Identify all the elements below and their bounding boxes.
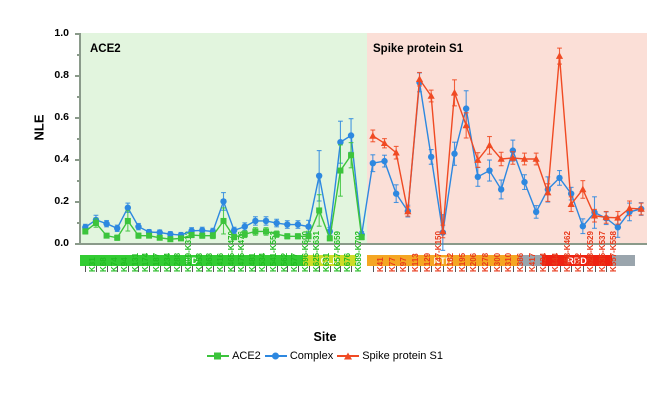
series-spike-s1 <box>369 48 645 238</box>
legend-glyph <box>214 353 221 360</box>
legend-label: Spike protein S1 <box>362 350 443 362</box>
legend-item-spike-protein-s1[interactable]: Spike protein S1 <box>337 350 443 362</box>
legend-label: Complex <box>290 350 333 362</box>
series-complex-right <box>370 73 645 250</box>
chart-figure: ACE2 Spike protein S1 NLE 0.00.20.40.60.… <box>0 0 650 400</box>
x-axis-title: Site <box>0 330 650 344</box>
legend-label: ACE2 <box>232 350 261 362</box>
legend-glyph <box>344 353 352 360</box>
legend-item-complex[interactable]: Complex <box>265 350 333 362</box>
legend-marker-triangle <box>337 355 359 357</box>
legend-marker-circle <box>265 355 287 357</box>
legend-glyph <box>272 353 279 360</box>
chart-legend: ACE2ComplexSpike protein S1 <box>0 350 650 362</box>
legend-item-ace2[interactable]: ACE2 <box>207 350 261 362</box>
legend-marker-square <box>207 355 229 357</box>
